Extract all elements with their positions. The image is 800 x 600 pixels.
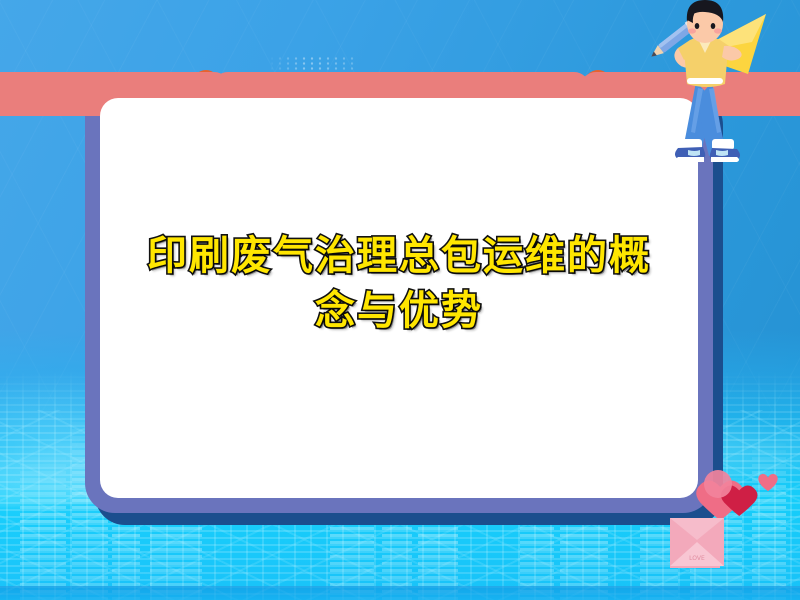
- floating-heart-icon: [757, 472, 779, 492]
- slide-canvas: 印刷废气治理总包运维的概 念与优势: [0, 0, 800, 600]
- background-bottom-edge: [0, 586, 800, 600]
- envelope-with-hearts-illustration: LOVE: [660, 470, 770, 580]
- slide-title: 印刷废气治理总包运维的概 念与优势: [110, 228, 688, 338]
- slide-title-line-2: 念与优势: [110, 283, 688, 338]
- svg-text:LOVE: LOVE: [689, 555, 705, 562]
- boy-character-illustration: [640, 0, 780, 176]
- dot-matrix-decoration: [268, 56, 354, 70]
- slide-title-line-1: 印刷废气治理总包运维的概: [110, 228, 688, 283]
